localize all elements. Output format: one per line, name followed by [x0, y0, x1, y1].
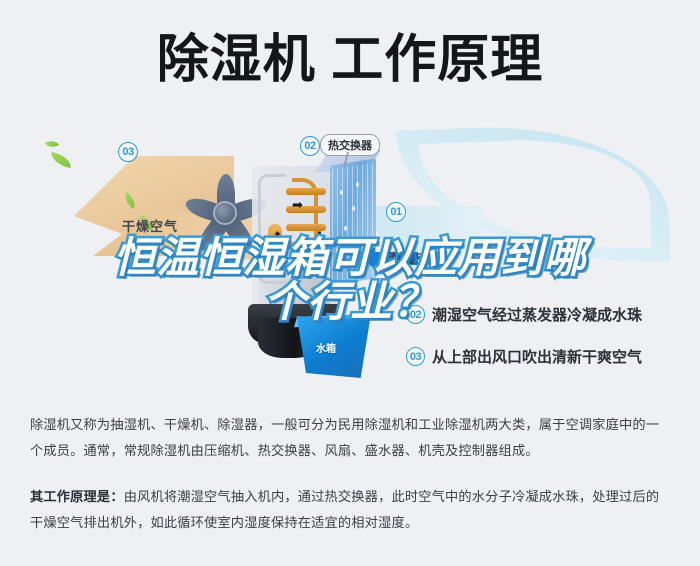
flow-arrow-right-icon: ➡ — [292, 198, 303, 211]
condensation-droplet — [344, 226, 347, 231]
marker-02: 02 — [300, 136, 320, 156]
leaf-icon — [49, 152, 73, 168]
condensation-droplet — [360, 238, 363, 243]
marker-01: 01 — [386, 202, 406, 222]
water-tank-label: 水箱 — [316, 340, 336, 355]
title-band: 除湿机 工作原理 — [0, 0, 700, 120]
annotation-step-03: 03 从上部出风口吹出清新干爽空气 — [406, 346, 642, 367]
paragraph-2-lead: 其工作原理是： — [30, 489, 124, 504]
dehumidifier-principle-diagram: ➡ ⬆ ⬇ 水箱 03 02 01 热交换器 干燥空气 潮湿空气 — [0, 118, 700, 410]
fan-hub — [213, 201, 237, 225]
annotation-step-02-text: 潮湿空气经过蒸发器冷凝成水珠 — [432, 304, 642, 325]
heat-exchanger-callout: 热交换器 — [320, 134, 380, 156]
humid-air-label: 潮湿空气 — [388, 248, 444, 267]
paragraph-1: 除湿机又称为抽湿机、干燥机、除湿器，一般可分为民用除湿机和工业除湿机两大类，属于… — [30, 412, 670, 464]
marker-03: 03 — [118, 142, 138, 162]
body-copy: 除湿机又称为抽湿机、干燥机、除湿器，一般可分为民用除湿机和工业除湿机两大类，属于… — [0, 412, 700, 536]
annotation-step-03-text: 从上部出风口吹出清新干爽空气 — [432, 346, 642, 367]
flow-arrow-up-icon: ⬆ — [272, 230, 283, 243]
paragraph-2-rest: 由风机将潮湿空气抽入机内，通过热交换器，此时空气中的水分子冷凝成水珠，处理过后的… — [30, 489, 659, 530]
leaf-icon — [45, 138, 59, 150]
condensation-droplet — [336, 248, 339, 253]
paragraph-2: 其工作原理是：由风机将潮湿空气抽入机内，通过热交换器，此时空气中的水分子冷凝成水… — [30, 484, 670, 536]
page-title: 除湿机 工作原理 — [157, 34, 543, 86]
marker-03: 03 — [406, 347, 425, 366]
page-root: 除湿机 工作原理 ➡ — [0, 0, 700, 566]
condensation-droplet — [352, 206, 355, 211]
dry-air-label: 干燥空气 — [122, 216, 178, 235]
annotation-step-02: 02 潮湿空气经过蒸发器冷凝成水珠 — [406, 304, 642, 325]
copper-pipe — [286, 188, 326, 195]
marker-02: 02 — [406, 305, 425, 324]
flow-arrow-down-icon: ⬇ — [314, 230, 325, 243]
condensation-droplet — [356, 182, 359, 187]
condensation-droplet — [340, 190, 343, 195]
